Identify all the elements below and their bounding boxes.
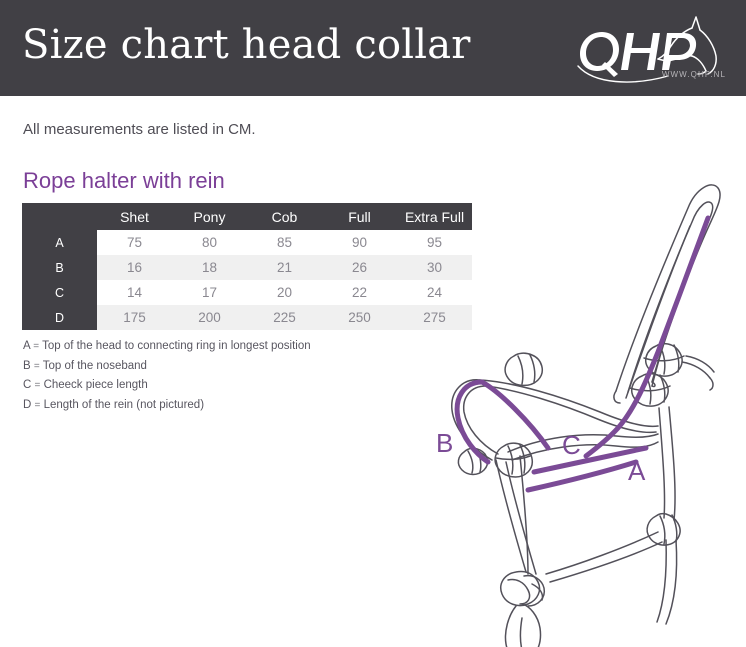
section-heading: Rope halter with rein [23,168,225,194]
legend-item-a: A = Top of the head to connecting ring i… [23,337,423,357]
cell-c-shet: 14 [97,280,172,305]
cell-a-shet: 75 [97,230,172,255]
cell-d-shet: 175 [97,305,172,330]
cell-d-full: 250 [322,305,397,330]
page-title: Size chart head collar [22,18,471,72]
rope-halter-illustration: A B C [420,160,746,647]
column-header-shet: Shet [97,203,172,230]
legend-key-b: B [23,360,31,372]
row-label-d: D [22,305,97,330]
table-row: B 16 18 21 26 30 [22,255,472,280]
legend-equals-a: = [33,341,39,352]
cell-d-cob: 225 [247,305,322,330]
brand-url: WWW.QHP.NL [662,70,726,79]
cell-b-full: 26 [322,255,397,280]
legend: A = Top of the head to connecting ring i… [23,337,423,415]
row-label-c: C [22,280,97,305]
legend-text-d: Length of the rein (not pictured) [44,399,204,411]
header-bar: Size chart head collar [0,0,746,96]
cell-d-pony: 200 [172,305,247,330]
diagram-label-b: B [436,428,453,458]
column-header-cob: Cob [247,203,322,230]
cell-a-cob: 85 [247,230,322,255]
diagram-label-c: C [562,430,581,460]
table-row: D 175 200 225 250 275 [22,305,472,330]
legend-item-c: C = Cheeck piece length [23,376,423,396]
legend-item-d: D = Length of the rein (not pictured) [23,396,423,416]
cell-a-full: 90 [322,230,397,255]
legend-text-c: Cheeck piece length [44,379,148,391]
cell-a-pony: 80 [172,230,247,255]
table-header: Shet Pony Cob Full Extra Full [22,203,472,230]
cell-b-cob: 21 [247,255,322,280]
legend-equals-d: = [35,400,41,411]
cell-b-shet: 16 [97,255,172,280]
cell-c-pony: 17 [172,280,247,305]
diagram-label-a: A [628,456,646,486]
table-row: A 75 80 85 90 95 [22,230,472,255]
cell-c-cob: 20 [247,280,322,305]
legend-text-a: Top of the head to connecting ring in lo… [42,340,311,352]
table-header-row: Shet Pony Cob Full Extra Full [22,203,472,230]
table-row: C 14 17 20 22 24 [22,280,472,305]
measurement-unit-note: All measurements are listed in CM. [23,121,256,138]
legend-text-b: Top of the noseband [43,360,147,372]
row-label-b: B [22,255,97,280]
column-header-full: Full [322,203,397,230]
legend-key-d: D [23,399,31,411]
table-body: A 75 80 85 90 95 B 16 18 21 26 30 C 14 1… [22,230,472,330]
cell-b-pony: 18 [172,255,247,280]
row-label-a: A [22,230,97,255]
size-chart-table: Shet Pony Cob Full Extra Full A 75 80 85… [22,203,472,330]
legend-key-a: A [23,340,30,352]
legend-key-c: C [23,379,31,391]
column-header-pony: Pony [172,203,247,230]
legend-equals-b: = [34,361,40,372]
table-corner-cell [22,203,97,230]
legend-equals-c: = [35,380,41,391]
legend-item-b: B = Top of the noseband [23,357,423,377]
cell-c-full: 22 [322,280,397,305]
